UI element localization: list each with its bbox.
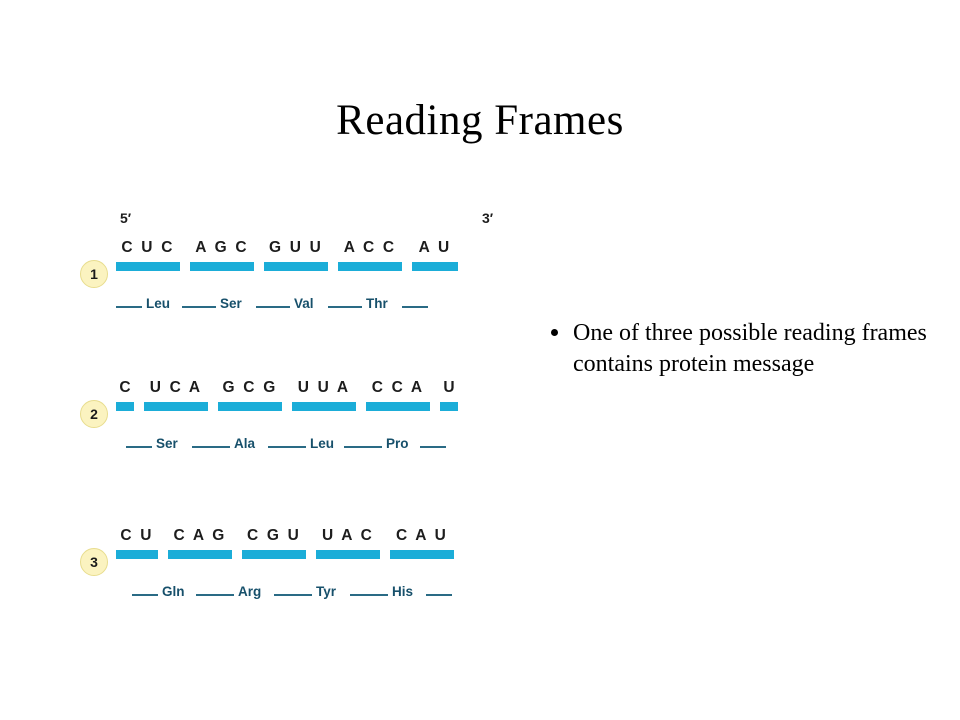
codon-bar — [264, 262, 328, 271]
amino-acid-dash — [426, 594, 452, 596]
amino-acid-dash — [274, 594, 312, 596]
codon: C G U — [242, 526, 306, 559]
codon: U U A — [292, 378, 356, 411]
five-prime-label: 5′ — [120, 210, 131, 226]
three-prime-label: 3′ — [482, 210, 493, 226]
codon-bar — [144, 402, 208, 411]
codon: C C A — [366, 378, 430, 411]
codon-bar — [116, 402, 134, 411]
codon: C U — [116, 526, 158, 559]
codon-bar — [292, 402, 356, 411]
frame-block-1: 1 C U C A G C G U U A C C — [70, 238, 530, 348]
codon-bar — [338, 262, 402, 271]
amino-acid-dash — [402, 306, 428, 308]
amino-acid-dash — [350, 594, 388, 596]
codon: U A C — [316, 526, 380, 559]
amino-acid-dash — [256, 306, 290, 308]
amino-acid-label: His — [392, 584, 413, 599]
codon: G U U — [264, 238, 328, 271]
codon-bar — [190, 262, 254, 271]
bullet-list: One of three possible reading frames con… — [545, 318, 935, 380]
amino-acid-label: Gln — [162, 584, 185, 599]
amino-acid-label: Thr — [366, 296, 388, 311]
codon: C A U — [390, 526, 454, 559]
amino-acid-dash — [328, 306, 362, 308]
codon: C U C — [116, 238, 180, 271]
codon: A C C — [338, 238, 402, 271]
codon: U C A — [144, 378, 208, 411]
codon: C A G — [168, 526, 232, 559]
codon: U — [440, 378, 458, 411]
amino-acid-dash — [182, 306, 216, 308]
codon-bar — [316, 550, 380, 559]
frame-number-badge: 3 — [80, 548, 108, 576]
amino-acid-label: Ala — [234, 436, 255, 451]
frame-number-badge: 2 — [80, 400, 108, 428]
amino-acid-label: Pro — [386, 436, 409, 451]
codon-bar — [242, 550, 306, 559]
amino-acid-dash — [132, 594, 158, 596]
amino-acid-label: Leu — [310, 436, 334, 451]
page-title: Reading Frames — [0, 96, 960, 145]
codon-bar — [440, 402, 458, 411]
codon-bar — [390, 550, 454, 559]
frame-number-badge: 1 — [80, 260, 108, 288]
bullet-dot-icon — [551, 329, 558, 336]
amino-acid-label: Val — [294, 296, 314, 311]
amino-acid-dash — [420, 446, 446, 448]
amino-acid-label: Leu — [146, 296, 170, 311]
codon-bar — [116, 262, 180, 271]
codon: C — [116, 378, 134, 411]
amino-acid-dash — [268, 446, 306, 448]
amino-acid-dash — [116, 306, 142, 308]
amino-acid-dash — [126, 446, 152, 448]
amino-acid-dash — [196, 594, 234, 596]
codon-bar — [116, 550, 158, 559]
amino-acid-dash — [344, 446, 382, 448]
codon: A G C — [190, 238, 254, 271]
amino-acid-label: Arg — [238, 584, 261, 599]
codon: A U — [412, 238, 458, 271]
frame-block-3: 3 C U C A G C G U U A C — [70, 526, 530, 636]
list-item-text: One of three possible reading frames con… — [573, 320, 927, 377]
amino-acid-dash — [192, 446, 230, 448]
amino-acid-label: Tyr — [316, 584, 336, 599]
codon: G C G — [218, 378, 282, 411]
codon-bar — [218, 402, 282, 411]
slide: Reading Frames 5′ 3′ 1 C U C A G C G U U — [0, 0, 960, 720]
amino-acid-label: Ser — [220, 296, 242, 311]
list-item: One of three possible reading frames con… — [545, 318, 935, 380]
reading-frames-figure: 5′ 3′ 1 C U C A G C G U U A C C — [70, 210, 530, 630]
amino-acid-label: Ser — [156, 436, 178, 451]
frame-block-2: 2 C U C A G C G U U A — [70, 378, 530, 488]
codon-bar — [366, 402, 430, 411]
codon-bar — [412, 262, 458, 271]
codon-bar — [168, 550, 232, 559]
